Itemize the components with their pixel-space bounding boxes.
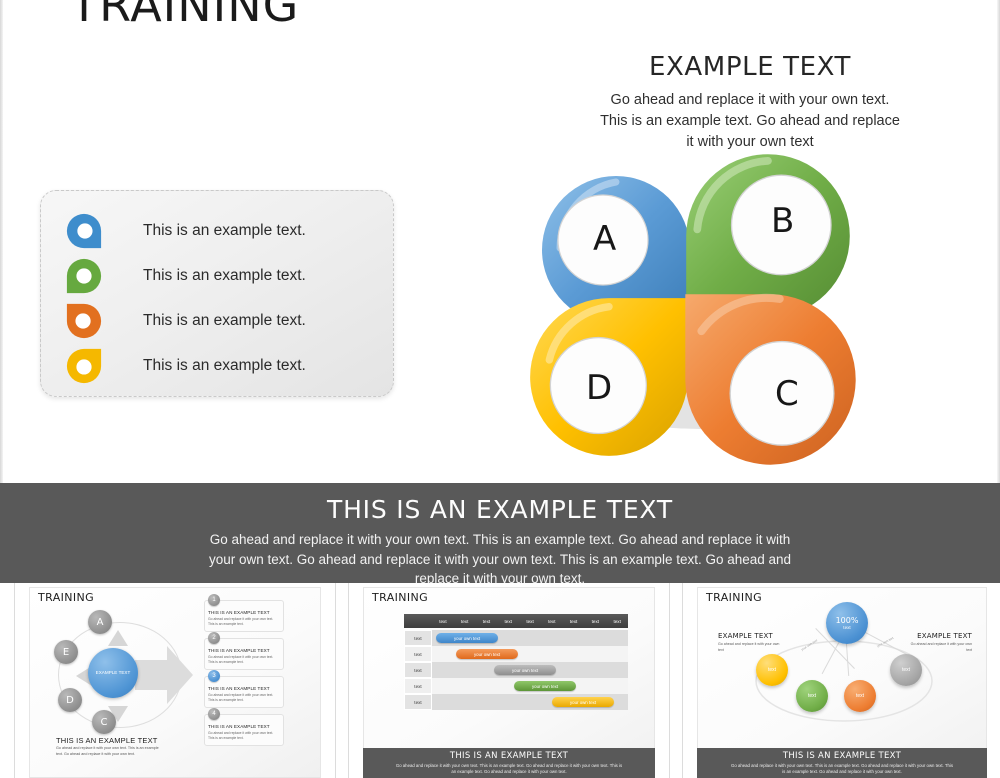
headline-title: EXAMPLE TEXT xyxy=(600,52,900,82)
table-row-label: text xyxy=(404,646,432,662)
headline-block: EXAMPLE TEXT Go ahead and replace it wit… xyxy=(600,52,900,153)
left-body: Go ahead and replace it with your own te… xyxy=(718,642,782,653)
table-col-header: text xyxy=(606,619,628,624)
thumbnail-banner-body: Go ahead and replace it with your own te… xyxy=(729,763,955,776)
thumbnail-1[interactable]: TRAINING A E D C EXAMPLE TEXT THIS IS AN… xyxy=(14,583,336,778)
table-col-header: text xyxy=(584,619,606,624)
main-slide: TRAINING EXAMPLE TEXT Go ahead and repla… xyxy=(0,0,1000,483)
card-body: Go ahead and replace it with your own te… xyxy=(208,731,278,741)
gantt-bar[interactable]: your own text xyxy=(436,633,498,643)
table-col-header: text xyxy=(432,619,454,624)
petal-b[interactable]: B xyxy=(684,152,836,304)
page-title: TRAINING xyxy=(70,0,299,32)
thumbnail-banner-body: Go ahead and replace it with your own te… xyxy=(395,763,623,776)
table-col-header: text xyxy=(454,619,476,624)
hub-value: 100% xyxy=(836,616,859,625)
gantt-bar[interactable]: your own text xyxy=(514,681,576,691)
thumbnail-title: TRAINING xyxy=(706,591,762,604)
legend-item-1[interactable]: This is an example text. xyxy=(65,211,375,251)
teardrop-pin-icon xyxy=(65,212,103,250)
card-heading: THIS IS AN EXAMPLE TEXT xyxy=(208,648,270,653)
petal-d[interactable]: D xyxy=(528,296,680,448)
table-col-header: text xyxy=(541,619,563,624)
table-header-row: text text text text text text text text … xyxy=(432,614,628,628)
card-number-badge: 1 xyxy=(208,594,220,606)
cycle-node-c[interactable]: C xyxy=(92,710,116,734)
legend-card: This is an example text. This is an exam… xyxy=(40,190,394,397)
legend-item-label: This is an example text. xyxy=(143,312,306,330)
legend-item-4[interactable]: This is an example text. xyxy=(65,346,375,386)
thumbnail-banner: THIS IS AN EXAMPLE TEXT Go ahead and rep… xyxy=(363,748,655,778)
teardrop-pin-icon xyxy=(65,257,103,295)
left-heading: EXAMPLE TEXT xyxy=(718,632,773,640)
cycle-node-d[interactable]: D xyxy=(58,688,82,712)
petal-c[interactable]: C xyxy=(683,292,835,444)
bubble-2[interactable]: text xyxy=(796,680,828,712)
card-body: Go ahead and replace it with your own te… xyxy=(208,617,278,627)
cycle-node-a[interactable]: A xyxy=(88,610,112,634)
card-number-badge: 3 xyxy=(208,670,220,682)
table-row-label: text xyxy=(404,662,432,678)
card-heading: THIS IS AN EXAMPLE TEXT xyxy=(208,610,270,615)
card-number-badge: 4 xyxy=(208,708,220,720)
thumbnail-footer-body: Go ahead and replace it with your own te… xyxy=(56,746,166,757)
petal-diagram: A B xyxy=(528,152,858,462)
banner-title: THIS IS AN EXAMPLE TEXT xyxy=(0,495,1000,524)
thumbnail-banner-title: THIS IS AN EXAMPLE TEXT xyxy=(363,751,655,761)
thumbnail-banner-title: THIS IS AN EXAMPLE TEXT xyxy=(697,751,987,761)
right-body: Go ahead and replace it with your own te… xyxy=(908,642,972,653)
right-heading: EXAMPLE TEXT xyxy=(917,632,972,640)
hub-bubble[interactable]: 100% text xyxy=(826,602,868,644)
thumbnail-1-canvas: TRAINING A E D C EXAMPLE TEXT THIS IS AN… xyxy=(29,587,321,778)
slide-left-edge xyxy=(0,0,3,483)
gantt-bar[interactable]: your own text xyxy=(494,665,556,675)
table-row-label: text xyxy=(404,694,432,710)
cycle-core[interactable]: EXAMPLE TEXT xyxy=(88,648,138,698)
teardrop-pin-icon xyxy=(65,347,103,385)
gantt-bar[interactable]: your own text xyxy=(456,649,518,659)
cycle-node-e[interactable]: E xyxy=(54,640,78,664)
legend-item-label: This is an example text. xyxy=(143,267,306,285)
petal-letter-b: B xyxy=(771,204,794,238)
thumbnail-title: TRAINING xyxy=(38,591,94,604)
hub-label: text xyxy=(843,625,850,630)
thumbnail-strip: TRAINING A E D C EXAMPLE TEXT THIS IS AN… xyxy=(0,583,1000,778)
legend-item-label: This is an example text. xyxy=(143,222,306,240)
banner-body: Go ahead and replace it with your own te… xyxy=(200,530,800,589)
card-heading: THIS IS AN EXAMPLE TEXT xyxy=(208,724,270,729)
table-row-label: text xyxy=(404,630,432,646)
thumbnail-3[interactable]: TRAINING your own text your own text 100… xyxy=(682,583,1000,778)
petal-letter-d: D xyxy=(586,371,612,405)
table-col-header: text xyxy=(519,619,541,624)
legend-item-3[interactable]: This is an example text. xyxy=(65,301,375,341)
legend-item-label: This is an example text. xyxy=(143,357,306,375)
petal-letter-c: C xyxy=(775,377,799,411)
bubble-1[interactable]: text xyxy=(756,654,788,686)
bubble-4[interactable]: text xyxy=(890,654,922,686)
card-number-badge: 2 xyxy=(208,632,220,644)
table-col-header: text xyxy=(497,619,519,624)
headline-body: Go ahead and replace it with your own te… xyxy=(600,90,900,153)
table-row-label: text xyxy=(404,678,432,694)
thumbnail-banner: THIS IS AN EXAMPLE TEXT Go ahead and rep… xyxy=(697,748,987,778)
table-col-header: text xyxy=(476,619,498,624)
table-col-header: text xyxy=(563,619,585,624)
slide-banner: THIS IS AN EXAMPLE TEXT Go ahead and rep… xyxy=(0,483,1000,583)
thumbnail-footer-heading: THIS IS AN EXAMPLE TEXT xyxy=(56,736,158,745)
card-body: Go ahead and replace it with your own te… xyxy=(208,655,278,665)
card-heading: THIS IS AN EXAMPLE TEXT xyxy=(208,686,270,691)
card-body: Go ahead and replace it with your own te… xyxy=(208,693,278,703)
thumbnail-2[interactable]: TRAINING text text text text text text t… xyxy=(348,583,670,778)
table-header-corner xyxy=(404,614,432,628)
teardrop-pin-icon xyxy=(65,302,103,340)
bubble-3[interactable]: text xyxy=(844,680,876,712)
legend-item-2[interactable]: This is an example text. xyxy=(65,256,375,296)
petal-letter-a: A xyxy=(593,222,616,256)
thumbnail-title: TRAINING xyxy=(372,591,428,604)
gantt-bar[interactable]: your own text xyxy=(552,697,614,707)
